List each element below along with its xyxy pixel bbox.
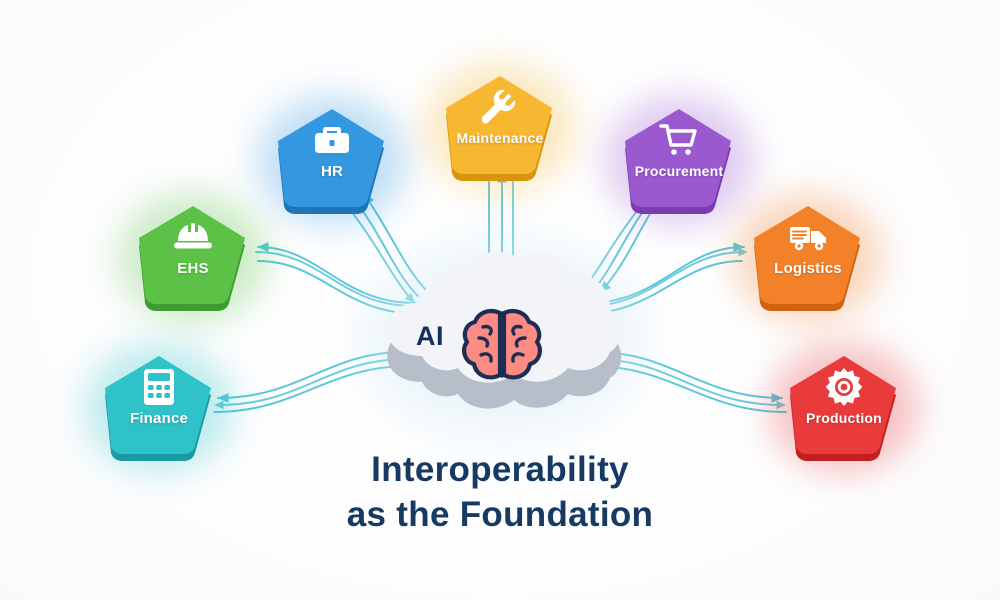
pentagon-shape [619, 103, 739, 215]
pentagon-shape [272, 103, 392, 215]
node-hr[interactable]: HR [272, 103, 392, 215]
diagram-canvas: AI [0, 0, 1000, 600]
title-line-1: Interoperability [371, 450, 629, 489]
node-ehs[interactable]: EHS [133, 200, 253, 312]
pentagon-shape [133, 200, 253, 312]
node-logistics[interactable]: Logistics [748, 200, 868, 312]
node-procurement[interactable]: Procurement [619, 103, 739, 215]
pentagon-shape [440, 70, 560, 182]
pentagon-shape [748, 200, 868, 312]
pentagon-shape [99, 350, 219, 462]
node-finance[interactable]: Finance [99, 350, 219, 462]
title-line-2: as the Foundation [0, 493, 1000, 538]
node-production[interactable]: Production [784, 350, 904, 462]
node-maintenance[interactable]: Maintenance [440, 70, 560, 182]
pentagon-shape [784, 350, 904, 462]
page-title: Interoperability as the Foundation [0, 448, 1000, 538]
